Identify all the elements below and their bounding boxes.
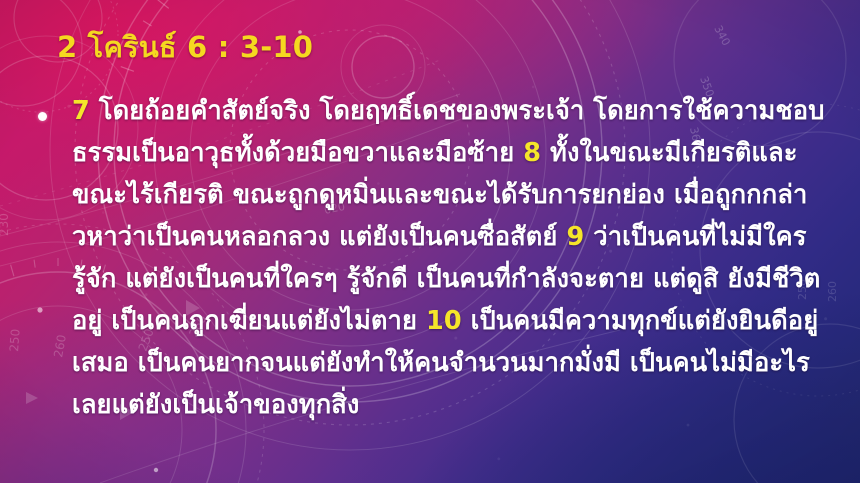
bullet-dot-icon: [38, 90, 72, 125]
verse-number: 10: [426, 306, 462, 336]
presentation-slide: 340 350 360 020: [0, 0, 860, 483]
verse-number: 8: [523, 138, 541, 168]
verse-bullet-item: 7 โดยถ้อยคำสัตย์จริง โดยฤทธิ์เดชของพระเจ…: [38, 90, 842, 426]
verse-body-text: 7 โดยถ้อยคำสัตย์จริง โดยฤทธิ์เดชของพระเจ…: [72, 90, 842, 426]
page-title: 2 โครินธ์ 6 : 3-10: [57, 33, 313, 62]
verse-number: 9: [566, 222, 584, 252]
verse-number: 7: [72, 96, 90, 126]
slide-content: 2 โครินธ์ 6 : 3-10 7 โดยถ้อยคำสัตย์จริง …: [0, 0, 860, 483]
